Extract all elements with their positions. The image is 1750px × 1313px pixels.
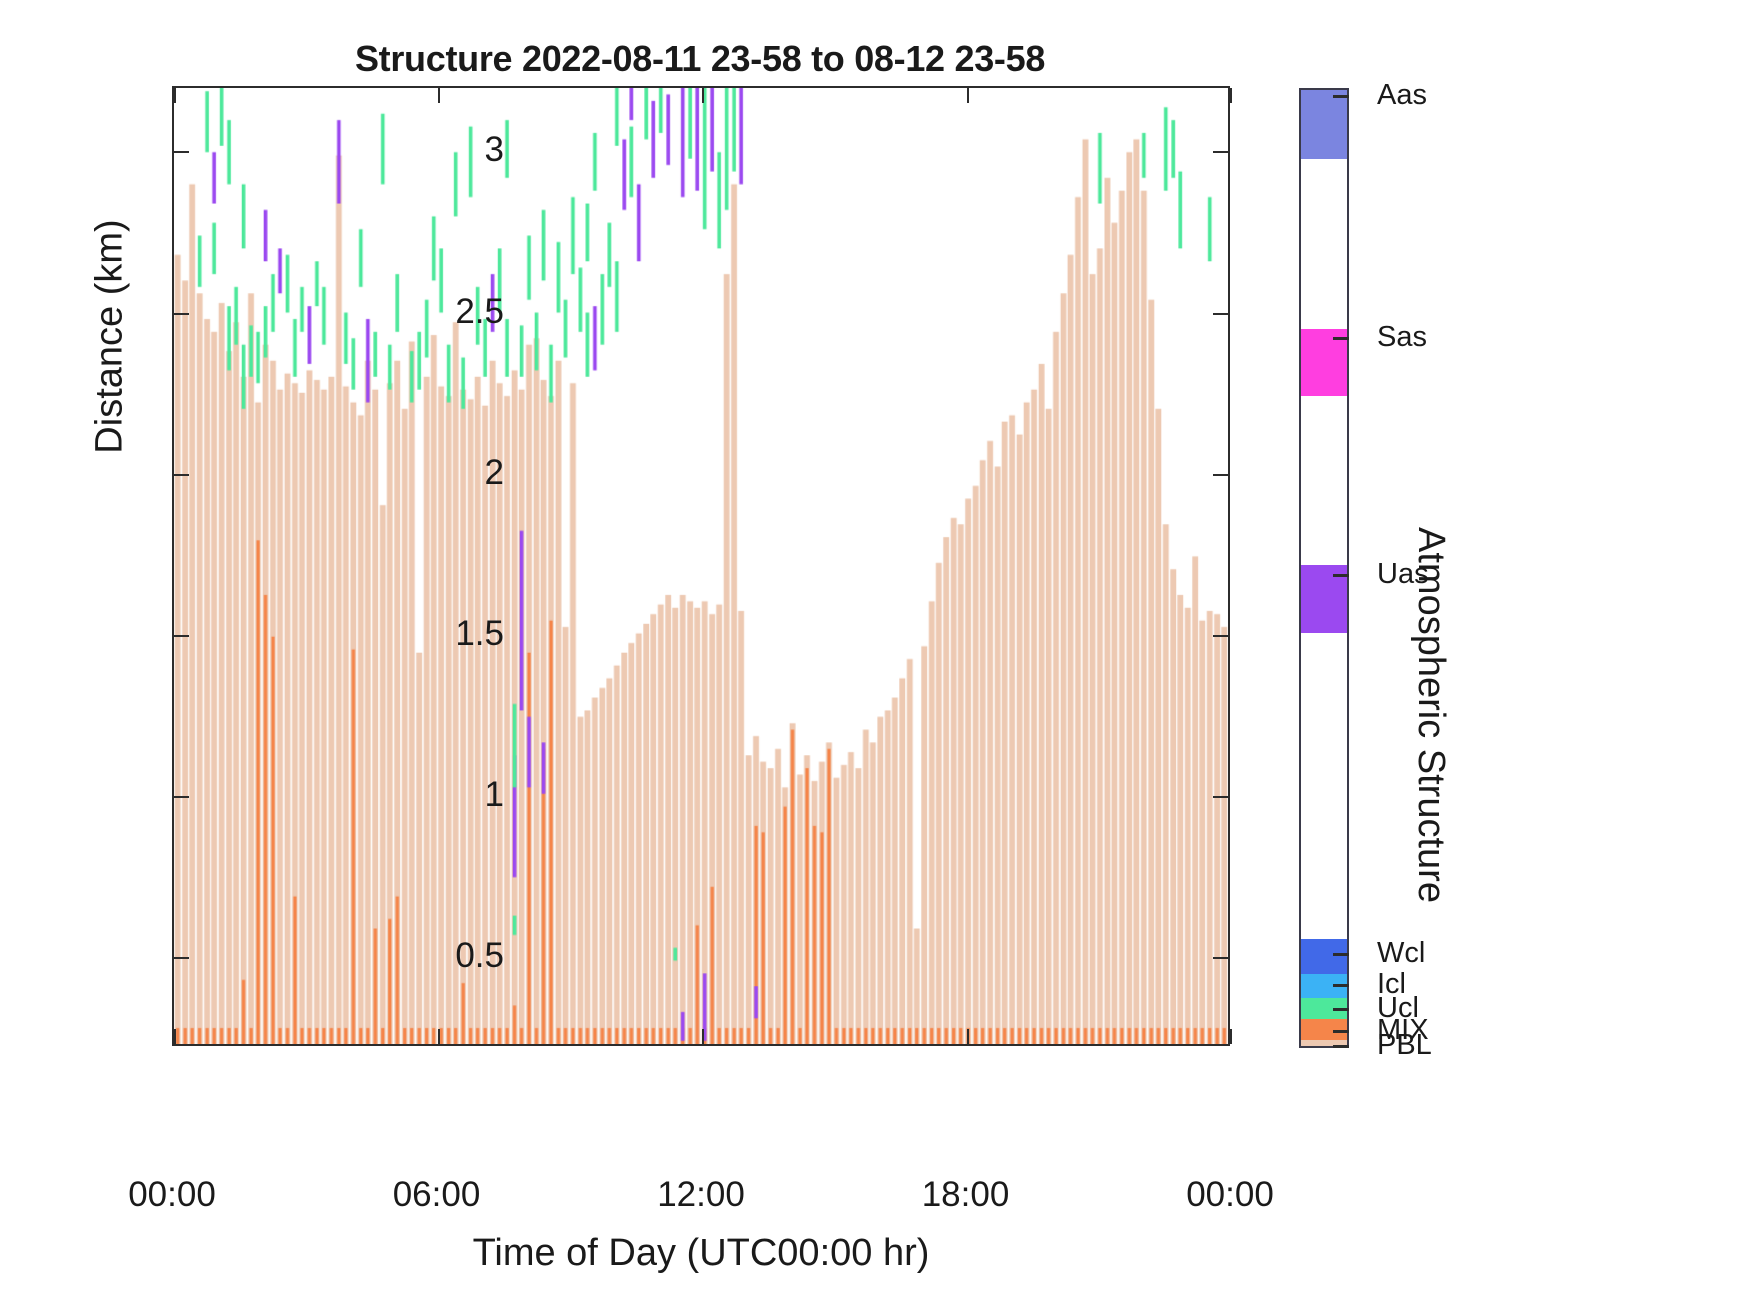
x-tick-mark xyxy=(967,1029,969,1044)
x-tick-label: 06:00 xyxy=(337,1176,537,1214)
y-tick-mark xyxy=(1213,474,1228,476)
y-tick-mark xyxy=(174,957,189,959)
x-tick-label: 12:00 xyxy=(601,1176,801,1214)
x-tick-mark xyxy=(702,1029,704,1044)
y-tick-mark xyxy=(1213,151,1228,153)
colorbar-segment-gap1 xyxy=(1301,159,1347,329)
colorbar-label-pbl: PBL xyxy=(1377,1031,1432,1060)
colorbar-segment-wcl xyxy=(1301,939,1347,974)
colorbar-tick-wcl xyxy=(1333,953,1349,956)
y-tick-label: 1 xyxy=(384,777,504,812)
x-tick-mark xyxy=(174,88,176,103)
x-tick-label: 00:00 xyxy=(72,1176,272,1214)
y-tick-mark xyxy=(174,796,189,798)
plot-canvas xyxy=(174,88,1228,1044)
y-tick-label: 3 xyxy=(384,132,504,167)
x-tick-mark xyxy=(1230,1029,1232,1044)
x-tick-mark xyxy=(438,88,440,103)
colorbar-label-aas: Aas xyxy=(1377,81,1427,110)
colorbar-tick-ucl xyxy=(1333,1008,1349,1011)
colorbar-tick-icl xyxy=(1333,984,1349,987)
y-tick-mark xyxy=(1213,957,1228,959)
x-tick-label: 00:00 xyxy=(1130,1176,1330,1214)
x-tick-label: 18:00 xyxy=(866,1176,1066,1214)
colorbar-label-sas: Sas xyxy=(1377,323,1427,352)
x-tick-mark xyxy=(1230,88,1232,103)
colorbar-segment-aas xyxy=(1301,90,1347,159)
y-tick-mark xyxy=(174,313,189,315)
x-axis-label: Time of Day (UTC00:00 hr) xyxy=(172,1232,1230,1275)
colorbar[interactable] xyxy=(1299,88,1349,1048)
y-tick-label: 1.5 xyxy=(384,616,504,651)
y-tick-label: 0.5 xyxy=(384,938,504,973)
colorbar-tick-mix xyxy=(1333,1030,1349,1033)
y-tick-mark xyxy=(1213,796,1228,798)
colorbar-segment-gap3 xyxy=(1301,633,1347,939)
colorbar-tick-sas xyxy=(1333,337,1349,340)
chart-title: Structure 2022-08-11 23-58 to 08-12 23-5… xyxy=(170,38,1230,80)
x-tick-mark xyxy=(967,88,969,103)
y-tick-mark xyxy=(174,635,189,637)
y-tick-label: 2 xyxy=(384,455,504,490)
y-tick-mark xyxy=(1213,635,1228,637)
colorbar-label-wcl: Wcl xyxy=(1377,939,1425,968)
colorbar-segment-gap2 xyxy=(1301,396,1347,565)
y-tick-mark xyxy=(174,151,189,153)
colorbar-tick-aas xyxy=(1333,95,1349,98)
x-tick-mark xyxy=(438,1029,440,1044)
colorbar-tick-pbl xyxy=(1333,1045,1349,1048)
plot-area xyxy=(172,86,1230,1046)
y-axis-label: Distance (km) xyxy=(89,127,132,547)
colorbar-tick-uas xyxy=(1333,574,1349,577)
y-tick-mark xyxy=(1213,313,1228,315)
colorbar-title: Atmospheric Structure xyxy=(1409,505,1452,925)
y-tick-mark xyxy=(174,474,189,476)
x-tick-mark xyxy=(174,1029,176,1044)
x-tick-mark xyxy=(702,88,704,103)
y-tick-label: 2.5 xyxy=(384,294,504,329)
